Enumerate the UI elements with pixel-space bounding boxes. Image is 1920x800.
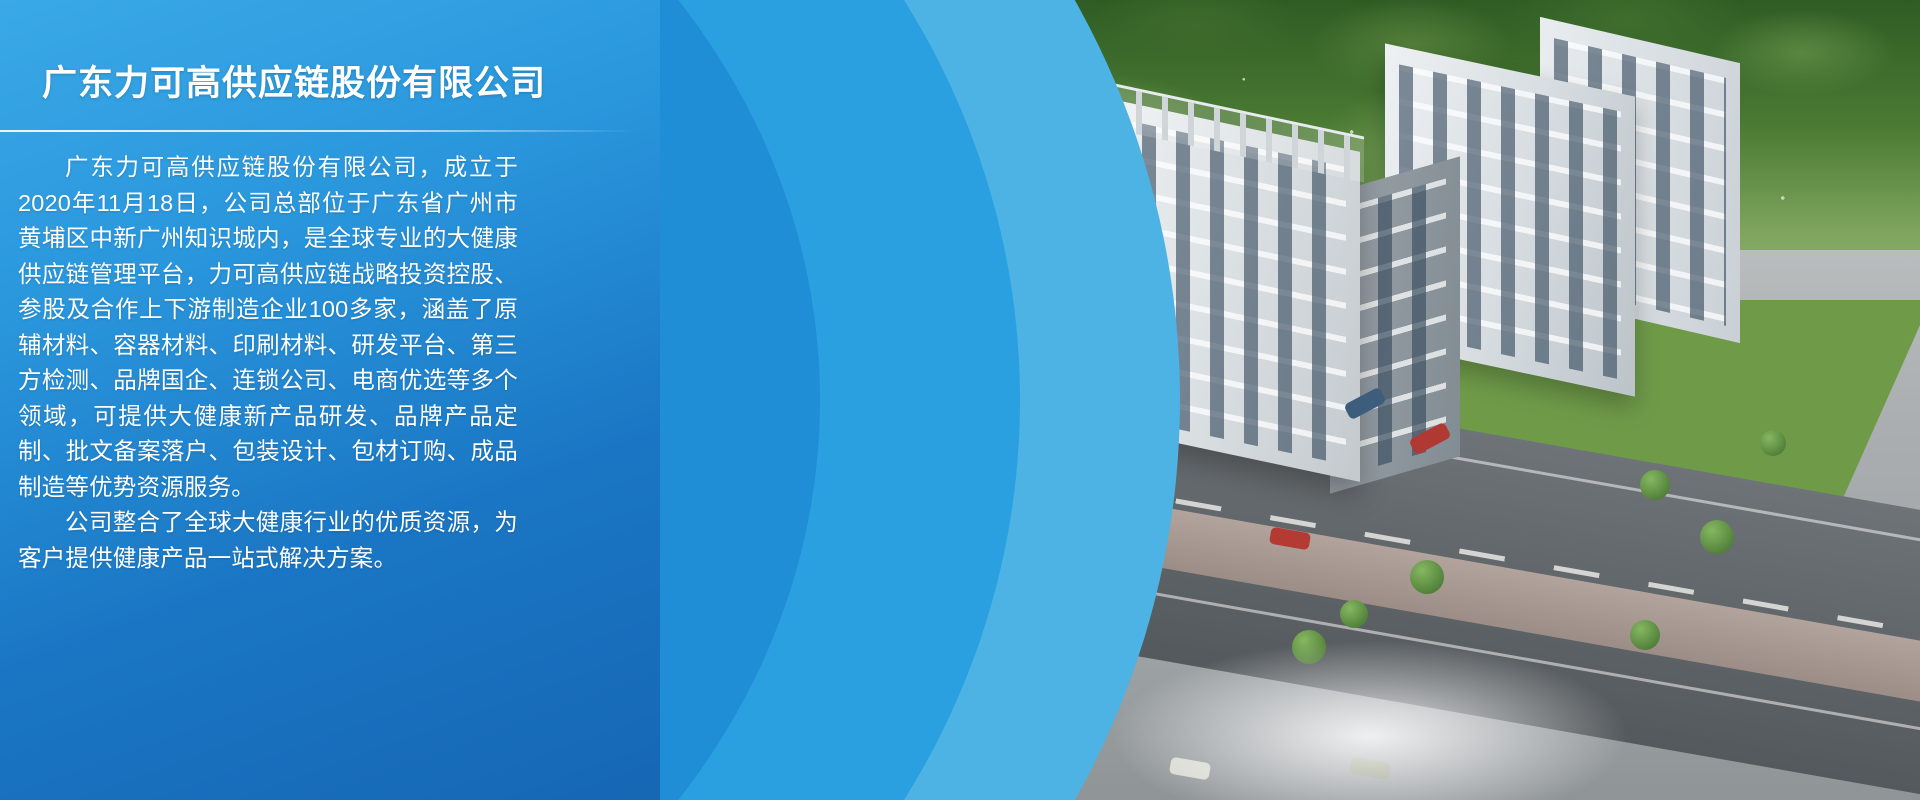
text-content: 广东力可高供应链股份有限公司 广东力可高供应链股份有限公司，成立于2020年11… — [0, 0, 660, 800]
page-title: 广东力可高供应链股份有限公司 — [42, 55, 546, 106]
tree — [1640, 470, 1670, 500]
paragraph-1: 广东力可高供应链股份有限公司，成立于2020年11月18日，公司总部位于广东省广… — [18, 150, 518, 505]
paragraph-2: 公司整合了全球大健康行业的优质资源，为客户提供健康产品一站式解决方案。 — [18, 505, 518, 576]
tree — [1340, 600, 1368, 628]
tree — [1630, 620, 1660, 650]
tree — [1700, 520, 1734, 554]
tree — [1760, 430, 1786, 456]
mist — [1110, 640, 1630, 800]
company-description: 广东力可高供应链股份有限公司，成立于2020年11月18日，公司总部位于广东省广… — [18, 150, 518, 576]
banner-stage: 广东力可高供应链股份有限公司 广东力可高供应链股份有限公司，成立于2020年11… — [0, 0, 1920, 800]
tree — [1410, 560, 1444, 594]
title-divider — [0, 130, 636, 132]
